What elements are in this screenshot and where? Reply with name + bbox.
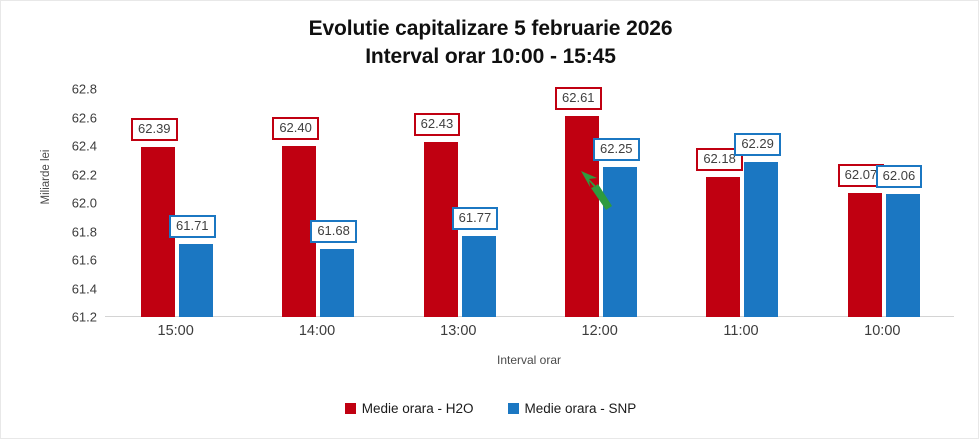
data-label: 62.25: [593, 138, 640, 161]
y-axis-tick-label: 62.8: [51, 82, 97, 97]
data-label: 61.71: [169, 215, 216, 238]
y-axis-tick-label: 62.0: [51, 196, 97, 211]
x-axis-title: Interval orar: [105, 353, 953, 367]
legend-swatch: [345, 403, 356, 414]
y-axis-tick-label: 61.4: [51, 281, 97, 296]
plot-area: 62.3961.7162.4061.6862.4361.7762.6162.25…: [105, 89, 953, 317]
legend-entry[interactable]: Medie orara - SNP: [508, 401, 637, 416]
y-axis-tick-labels: 62.862.662.462.262.061.861.661.461.2: [45, 1, 97, 439]
chart-title-line2: Interval orar 10:00 - 15:45: [1, 43, 979, 71]
x-axis-category-label: 15:00: [106, 323, 246, 339]
legend-label: Medie orara - H2O: [362, 401, 474, 416]
bar-h2o[interactable]: [848, 193, 882, 317]
chart-title-line1: Evolutie capitalizare 5 februarie 2026: [309, 17, 673, 40]
data-label: 61.68: [310, 220, 357, 243]
y-axis-tick-label: 62.2: [51, 167, 97, 182]
data-label: 62.43: [414, 113, 461, 136]
y-axis-tick-label: 62.4: [51, 139, 97, 154]
bar-group: 62.4361.77: [388, 89, 529, 317]
x-axis-category-label: 11:00: [671, 323, 811, 339]
bar-snp[interactable]: [320, 249, 354, 317]
legend-entry[interactable]: Medie orara - H2O: [345, 401, 474, 416]
bar-group: 62.6162.25: [529, 89, 670, 317]
bar-group: 62.4061.68: [246, 89, 387, 317]
bar-group: 62.0762.06: [812, 89, 953, 317]
x-axis-category-label: 14:00: [247, 323, 387, 339]
x-axis-category-label: 10:00: [812, 323, 952, 339]
legend-label: Medie orara - SNP: [525, 401, 637, 416]
data-label: 62.61: [555, 87, 602, 110]
chart-legend: Medie orara - H2OMedie orara - SNP: [1, 401, 979, 416]
bar-snp[interactable]: [744, 162, 778, 317]
y-axis-tick-label: 61.8: [51, 224, 97, 239]
y-axis-tick-label: 61.2: [51, 310, 97, 325]
x-axis-category-label: 12:00: [530, 323, 670, 339]
y-axis-tick-label: 62.6: [51, 110, 97, 125]
chart-container: Evolutie capitalizare 5 februarie 2026 I…: [0, 0, 979, 439]
bar-h2o[interactable]: [706, 177, 740, 317]
legend-swatch: [508, 403, 519, 414]
data-label: 62.06: [876, 165, 923, 188]
bar-snp[interactable]: [462, 236, 496, 317]
bar-snp[interactable]: [603, 167, 637, 317]
x-axis-category-label: 13:00: [388, 323, 528, 339]
data-label: 62.40: [272, 117, 319, 140]
data-label: 62.29: [734, 133, 781, 156]
bar-snp[interactable]: [179, 244, 213, 317]
y-axis-tick-label: 61.6: [51, 253, 97, 268]
data-label: 62.39: [131, 118, 178, 141]
x-axis-category-labels: 15:0014:0013:0012:0011:0010:00: [105, 323, 953, 349]
chart-title: Evolutie capitalizare 5 februarie 2026 I…: [1, 15, 979, 71]
bar-group: 62.1862.29: [670, 89, 811, 317]
bar-group: 62.3961.71: [105, 89, 246, 317]
data-label: 61.77: [452, 207, 499, 230]
bar-snp[interactable]: [886, 194, 920, 317]
